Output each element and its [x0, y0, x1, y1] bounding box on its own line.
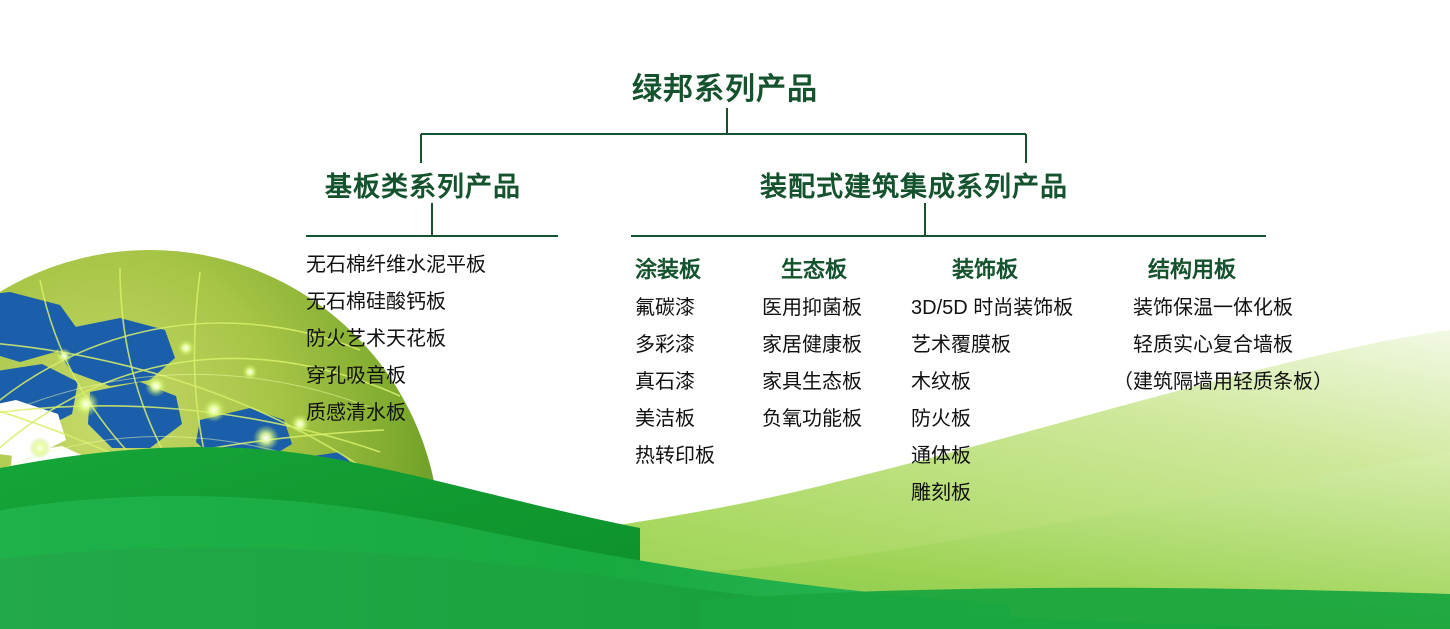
leaf-item: 装饰保温一体化板	[1113, 290, 1313, 327]
leaf-item: 艺术覆膜板	[911, 327, 1073, 364]
leaf-item: 无石棉纤维水泥平板	[306, 247, 486, 284]
leaf-item: 3D/5D 时尚装饰板	[911, 290, 1073, 327]
product-tree: 绿邦系列产品 基板类系列产品 装配式建筑集成系列产品 无石棉纤维水泥平板 无石棉…	[0, 0, 1450, 629]
leaf-item: 质感清水板	[306, 395, 486, 432]
leaf-item: 通体板	[911, 438, 1073, 475]
leaf-item: 木纹板	[911, 364, 1073, 401]
leaf-list-decorative: 3D/5D 时尚装饰板 艺术覆膜板 木纹板 防火板 通体板 雕刻板	[911, 290, 1073, 512]
leaf-item: 美洁板	[635, 401, 715, 438]
column-head-structural: 结构用板	[1148, 252, 1236, 284]
leaf-list-base-boards: 无石棉纤维水泥平板 无石棉硅酸钙板 防火艺术天花板 穿孔吸音板 质感清水板	[306, 247, 486, 432]
leaf-item: 穿孔吸音板	[306, 358, 486, 395]
leaf-item: （建筑隔墙用轻质条板）	[1113, 364, 1313, 401]
leaf-item: 医用抑菌板	[762, 290, 862, 327]
leaf-item: 防火艺术天花板	[306, 321, 486, 358]
leaf-item: 氟碳漆	[635, 290, 715, 327]
leaf-item: 负氧功能板	[762, 401, 862, 438]
column-head-coating: 涂装板	[635, 252, 701, 284]
leaf-list-structural: 装饰保温一体化板 轻质实心复合墙板 （建筑隔墙用轻质条板）	[1113, 290, 1313, 401]
leaf-item: 热转印板	[635, 438, 715, 475]
branch-title-prefab-building: 装配式建筑集成系列产品	[760, 165, 1068, 204]
leaf-item: 多彩漆	[635, 327, 715, 364]
leaf-list-eco: 医用抑菌板 家居健康板 家具生态板 负氧功能板	[762, 290, 862, 438]
leaf-item: 真石漆	[635, 364, 715, 401]
leaf-item: 家居健康板	[762, 327, 862, 364]
leaf-item: 家具生态板	[762, 364, 862, 401]
leaf-item: 轻质实心复合墙板	[1113, 327, 1313, 364]
leaf-item: 雕刻板	[911, 475, 1073, 512]
column-head-eco: 生态板	[781, 252, 847, 284]
leaf-list-coating: 氟碳漆 多彩漆 真石漆 美洁板 热转印板	[635, 290, 715, 475]
poster-canvas: 绿邦系列产品 基板类系列产品 装配式建筑集成系列产品 无石棉纤维水泥平板 无石棉…	[0, 0, 1450, 629]
leaf-item: 无石棉硅酸钙板	[306, 284, 486, 321]
leaf-item: 防火板	[911, 401, 1073, 438]
branch-title-base-boards: 基板类系列产品	[325, 165, 521, 204]
root-node-title: 绿邦系列产品	[0, 64, 1450, 108]
column-head-decorative: 装饰板	[952, 252, 1018, 284]
